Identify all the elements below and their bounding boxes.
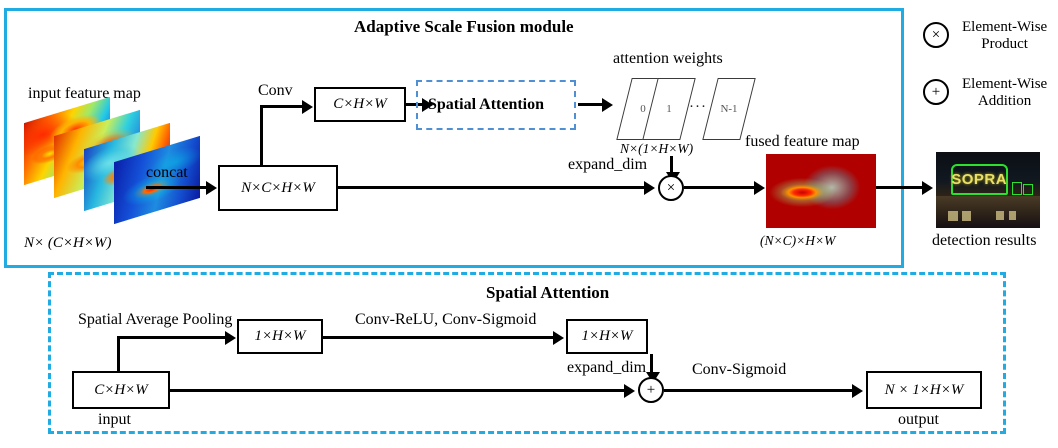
legend-addition-line2: Addition [962, 93, 1047, 110]
legend-addition-icon: + [923, 79, 949, 105]
spatial-attention-input-box: C×H×W [72, 371, 170, 409]
attention-slice-n-1-label: N-1 [711, 103, 747, 115]
spatial-average-pooling-label: Spatial Average Pooling [78, 311, 232, 329]
element-wise-addition-node: + [638, 377, 664, 403]
adaptive-scale-fusion-title: Adaptive Scale Fusion module [354, 17, 574, 37]
conv-tensor-box: C×H×W [314, 87, 406, 122]
detection-results-caption: detection results [932, 232, 1036, 250]
input-feature-map-caption: input feature map [28, 85, 141, 103]
spatial-attention-output-box: N × 1×H×W [866, 371, 982, 409]
main-flow-line-to-multiply [338, 186, 646, 189]
detection-box-small-2 [1023, 184, 1032, 195]
expand-dim-label-bottom: expand_dim [567, 359, 646, 377]
expand-dim-label-top: expand_dim [568, 156, 647, 174]
attention-slices-ellipsis: ··· [689, 99, 707, 116]
legend-product-line2: Product [962, 36, 1047, 53]
detection-window [1009, 211, 1016, 219]
detection-results-image: SOPRA [936, 152, 1040, 228]
spatial-attention-input-caption: input [98, 411, 131, 429]
fused-feature-map-dims: (N×C)×H×W [760, 233, 835, 249]
detection-box-sopra: SOPRA [951, 164, 1008, 194]
fused-feature-map-caption: fused feature map [745, 133, 860, 151]
pooled-to-mid-arrow-head [553, 331, 564, 345]
element-wise-product-node: × [658, 175, 684, 201]
concat-tensor-box: N×C×H×W [218, 165, 338, 211]
detection-window [962, 211, 971, 221]
detection-box-small-1 [1012, 182, 1022, 194]
pooling-branch-vertical [117, 336, 120, 373]
concat-arrow-head [206, 181, 217, 195]
conv-branch-vertical [260, 105, 263, 167]
legend-product-label: Element-Wise Product [962, 19, 1047, 54]
fused-feature-map-image [766, 154, 876, 228]
detection-window [996, 211, 1003, 219]
pooled-tensor-box: 1×H×W [237, 319, 323, 354]
pooling-branch-horizontal [117, 336, 227, 339]
spatial-attention-block-label: Spatial Attention [428, 96, 544, 114]
detection-window [948, 211, 957, 221]
add-to-output-arrow-head [852, 384, 863, 398]
add-to-output-line [664, 389, 854, 392]
conv-label: Conv [258, 82, 293, 100]
legend-product-icon: × [923, 22, 949, 48]
attention-to-weights-arrow-head [602, 98, 613, 112]
attention-weights-caption: attention weights [613, 50, 723, 68]
legend-addition-label: Element-Wise Addition [962, 76, 1047, 111]
pooled-to-mid-line [323, 336, 555, 339]
spatial-attention-title: Spatial Attention [486, 283, 609, 303]
main-flow-arrow-head-to-multiply [644, 181, 655, 195]
conv-branch-arrow-head [302, 100, 313, 114]
mid-tensor-box: 1×H×W [566, 319, 648, 354]
conv-branch-horizontal [260, 105, 304, 108]
multiply-to-fused-line [684, 186, 756, 189]
conv-sigmoid-label: Conv-Sigmoid [692, 361, 786, 379]
multiply-to-fused-arrow-head [754, 181, 765, 195]
attention-to-weights-line [578, 103, 604, 106]
spatial-attention-output-caption: output [898, 411, 939, 429]
attention-weights-dims: N×(1×H×W) [620, 141, 693, 157]
fused-to-detection-arrow-head [922, 181, 933, 195]
bottom-main-flow-line [170, 389, 626, 392]
input-feature-map-dims: N× (C×H×W) [24, 235, 111, 252]
attention-slice-1-label: 1 [651, 103, 687, 115]
pooling-branch-arrow-head [225, 331, 236, 345]
concat-arrow-line [146, 186, 208, 189]
conv-relu-conv-sigmoid-label: Conv-ReLU, Conv-Sigmoid [355, 311, 536, 329]
legend-addition-line1: Element-Wise [962, 76, 1047, 93]
diagram-canvas: Adaptive Scale Fusion module input featu… [0, 0, 1058, 448]
expand-dim-vertical-bottom [650, 354, 653, 374]
legend-product-line1: Element-Wise [962, 19, 1047, 36]
concat-label: concat [146, 164, 188, 182]
bottom-main-flow-arrow-head [624, 384, 635, 398]
fused-to-detection-line [876, 186, 926, 189]
